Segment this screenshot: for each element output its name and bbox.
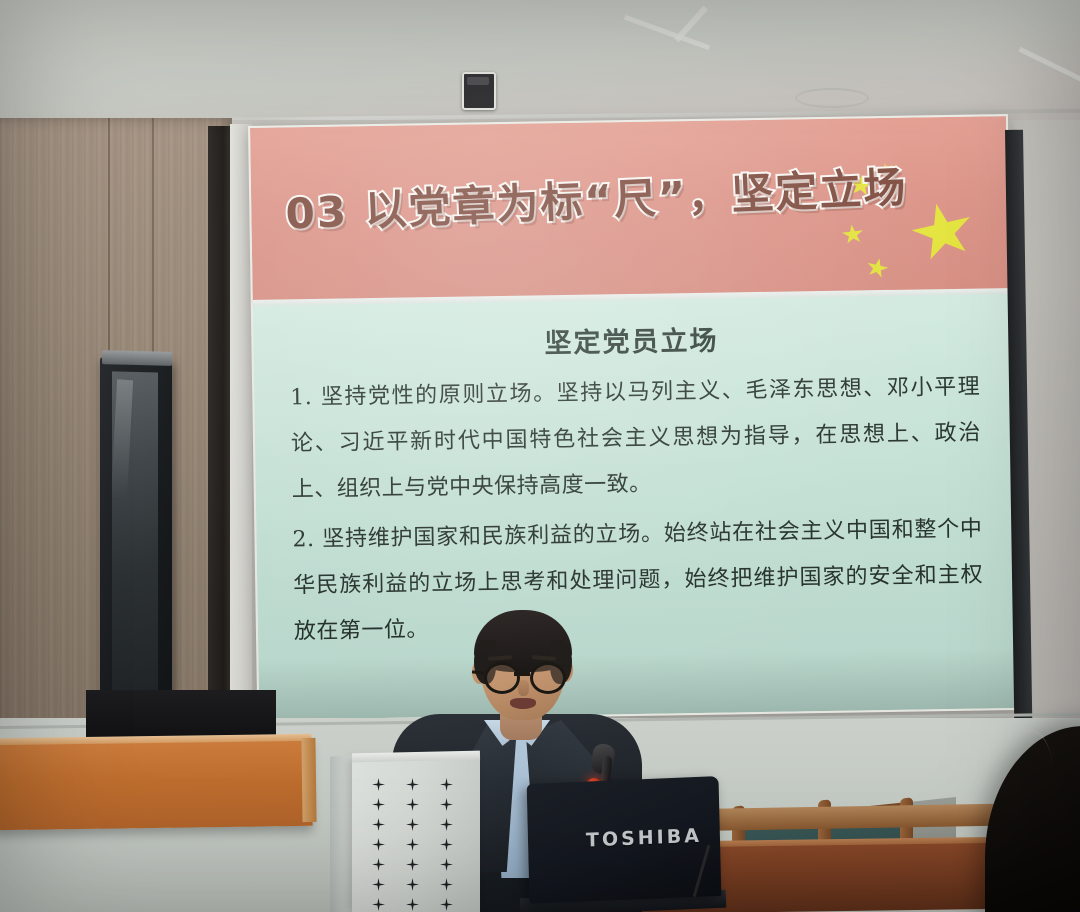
- perforation-icon: [372, 798, 385, 811]
- ceiling-light-ring: [795, 88, 869, 108]
- perforation-icon: [406, 778, 419, 791]
- perforation-icon: [372, 878, 385, 891]
- perforation-icon: [440, 818, 453, 831]
- perforation-icon: [372, 838, 385, 851]
- laptop-brand-label: TOSHIBA: [586, 825, 702, 852]
- perforation-icon: [372, 858, 385, 871]
- perforation-icon: [440, 778, 453, 791]
- perforation-icon: [406, 878, 419, 891]
- perforation-icon: [440, 838, 453, 851]
- perforation-icon: [372, 818, 385, 831]
- perforation-icon: [440, 798, 453, 811]
- speaker-panel-cap: [102, 350, 172, 366]
- wooden-shelf: [0, 738, 313, 830]
- lectern-perforations: [372, 778, 464, 908]
- camera-lens-icon: [467, 77, 489, 85]
- wall-camera-icon: [462, 72, 496, 110]
- glasses-bridge: [514, 672, 530, 676]
- slide-paragraph-1: 1. 坚持党性的原则立场。坚持以马列主义、毛泽东思想、邓小平理论、习近平新时代中…: [290, 365, 982, 514]
- presenter-nose: [518, 680, 529, 696]
- perforation-icon: [440, 858, 453, 871]
- perforation-icon: [440, 878, 453, 891]
- perforation-icon: [372, 778, 385, 791]
- perforation-icon: [406, 818, 419, 831]
- lecture-hall-photo: 03 以党章为标“尺”，坚定立场 坚定党员立场 1. 坚持党性的原则立场。坚持以…: [0, 0, 1080, 912]
- perforation-icon: [406, 858, 419, 871]
- perforation-icon: [406, 798, 419, 811]
- perforation-icon: [406, 838, 419, 851]
- presenter-mouth: [510, 698, 536, 709]
- shelf-side-edge: [301, 738, 316, 822]
- laptop: TOSHIBA: [527, 776, 722, 904]
- glasses-lens: [530, 662, 566, 694]
- glasses-lens: [484, 662, 520, 694]
